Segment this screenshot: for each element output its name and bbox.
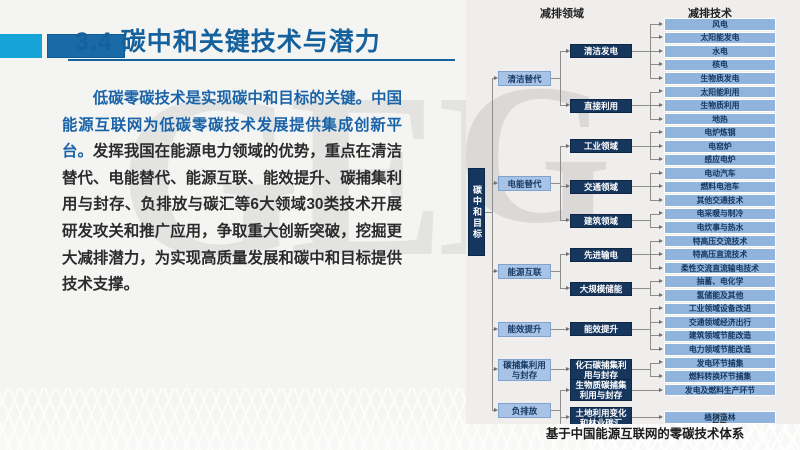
tech-node-24[interactable]: 电力领域节能改造: [664, 343, 776, 356]
tech-node-15[interactable]: 电炊事与热水: [664, 221, 776, 234]
connector-arrow: [494, 367, 498, 371]
tech-node-13[interactable]: 其他交通技术: [664, 194, 776, 207]
connector-arrow: [566, 252, 570, 256]
pillar-node-1[interactable]: 电能替代: [498, 176, 551, 191]
tech-node-8[interactable]: 电炉炼钢: [664, 126, 776, 139]
tech-node-3[interactable]: 核电: [664, 59, 776, 72]
connector-line: [650, 119, 659, 120]
connector-line: [650, 308, 659, 309]
connector-arrow: [659, 360, 663, 364]
connector-line: [650, 417, 659, 418]
area-node-6[interactable]: 大规模储能: [570, 282, 632, 296]
area-node-0[interactable]: 清洁发电: [570, 44, 632, 58]
connector-line: [650, 322, 659, 323]
connector-line: [632, 146, 650, 147]
tech-node-23[interactable]: 建筑领域节能改造: [664, 330, 776, 343]
connector-arrow: [659, 266, 663, 270]
connector-line: [650, 173, 659, 174]
connector-line: [650, 363, 651, 378]
page-number: 22: [712, 411, 727, 428]
pillar-node-4[interactable]: 碳捕集利用与封存: [498, 359, 551, 381]
connector-line: [551, 271, 560, 272]
connector-line: [632, 417, 650, 418]
connector-line: [650, 78, 659, 79]
connector-arrow: [659, 225, 663, 229]
tech-node-7[interactable]: 地热: [664, 113, 776, 126]
connector-line: [560, 51, 561, 106]
connector-line: [650, 132, 659, 133]
connector-arrow: [659, 198, 663, 202]
diagram-panel: G 减排领域 减排技术 碳中和目标 清洁替代电能替代能源互联能效提升碳捕集利用与…: [466, 0, 800, 424]
connector-arrow: [659, 62, 663, 66]
connector-arrow: [659, 130, 663, 134]
body-paragraph: 低碳零碳技术是实现碳中和目标的关键。中国能源互联网为低碳零碳技术发展提供集成创新…: [62, 86, 402, 299]
connector-line: [650, 308, 651, 350]
connector-arrow: [659, 117, 663, 121]
tech-node-18[interactable]: 柔性交流直流输电技术: [664, 262, 776, 275]
diagram-root-node[interactable]: 碳中和目标: [468, 168, 485, 256]
connector-arrow: [659, 252, 663, 256]
connector-arrow: [659, 279, 663, 283]
connector-line: [632, 105, 650, 106]
connector-arrow: [659, 347, 663, 351]
tech-node-21[interactable]: 工业领域设备改进: [664, 303, 776, 316]
connector-line: [650, 24, 659, 25]
connector-line: [650, 281, 651, 296]
title-accent-bar-light: [0, 34, 42, 58]
connector-line: [632, 51, 650, 52]
connector-line: [650, 200, 659, 201]
connector-arrow: [659, 320, 663, 324]
connector-line: [560, 254, 561, 289]
tech-node-9[interactable]: 电窑炉: [664, 140, 776, 153]
connector-line: [650, 335, 659, 336]
tech-node-19[interactable]: 抽蓄、电化学: [664, 275, 776, 288]
connector-line: [632, 390, 650, 391]
area-node-1[interactable]: 直接利用: [570, 99, 632, 113]
connector-arrow: [659, 171, 663, 175]
connector-arrow: [659, 239, 663, 243]
connector-arrow: [566, 388, 570, 392]
area-node-5[interactable]: 先进输电: [570, 248, 632, 262]
connector-arrow: [659, 103, 663, 107]
connector-line: [632, 220, 650, 221]
connector-line: [551, 329, 560, 330]
connector-line: [650, 363, 659, 364]
tech-node-1[interactable]: 太阳能发电: [664, 32, 776, 45]
connector-arrow: [659, 388, 663, 392]
connector-arrow: [566, 144, 570, 148]
connector-arrow: [659, 306, 663, 310]
connector-arrow: [566, 415, 570, 419]
tech-node-20[interactable]: 氢储能及其他: [664, 289, 776, 302]
tech-node-17[interactable]: 特高压直流技术: [664, 248, 776, 261]
connector-line: [650, 295, 659, 296]
connector-arrow: [659, 333, 663, 337]
connector-line: [650, 105, 659, 106]
tech-node-0[interactable]: 风电: [664, 18, 776, 31]
connector-line: [650, 51, 659, 52]
connector-line: [650, 64, 659, 65]
connector-arrow: [659, 184, 663, 188]
area-node-3[interactable]: 交通领域: [570, 180, 632, 194]
pillar-node-0[interactable]: 清洁替代: [498, 71, 551, 86]
connector-arrow: [659, 49, 663, 53]
connector-line: [650, 390, 659, 391]
connector-arrow: [659, 374, 663, 378]
tech-node-4[interactable]: 生物质发电: [664, 72, 776, 85]
column-header-areas: 减排领域: [540, 5, 584, 21]
tech-node-11[interactable]: 电动汽车: [664, 167, 776, 180]
connector-arrow: [566, 286, 570, 290]
connector-arrow: [566, 327, 570, 331]
connector-line: [632, 254, 650, 255]
connector-line: [650, 186, 659, 187]
connector-line: [632, 288, 650, 289]
connector-arrow: [659, 293, 663, 297]
diagram-caption: 基于中国能源互联网的零碳技术体系: [500, 424, 790, 442]
connector-line: [551, 410, 560, 411]
pillar-node-5[interactable]: 负排放: [498, 403, 551, 418]
connector-line: [560, 146, 561, 222]
tech-node-25[interactable]: 发电环节捕集: [664, 357, 776, 370]
slide-canvas: GEIDCO ion 3.4 碳中和关键技术与潜力 低碳零碳技术是实现碳中和目标…: [0, 0, 800, 450]
connector-arrow: [659, 157, 663, 161]
connector-line: [560, 390, 561, 424]
pillar-node-2[interactable]: 能源互联: [498, 264, 551, 279]
area-node-8[interactable]: 化石碳捕集利用与封存: [570, 359, 632, 381]
connector-arrow: [566, 367, 570, 371]
area-node-2[interactable]: 工业领域: [570, 139, 632, 153]
area-node-4[interactable]: 建筑领域: [570, 214, 632, 228]
title-underline: [68, 59, 455, 61]
connector-line: [632, 369, 650, 370]
connector-line: [650, 254, 659, 255]
tech-node-5[interactable]: 太阳能利用: [664, 86, 776, 99]
connector-arrow: [494, 408, 498, 412]
connector-line: [650, 92, 659, 93]
connector-arrow: [494, 269, 498, 273]
connector-arrow: [659, 144, 663, 148]
tech-node-6[interactable]: 生物质利用: [664, 99, 776, 112]
area-node-9[interactable]: 生物质碳捕集利用与封存: [570, 379, 632, 401]
area-node-10[interactable]: 土地利用变化和林业碳汇: [570, 407, 632, 424]
connector-line: [650, 214, 651, 229]
connector-arrow: [566, 184, 570, 188]
tech-node-27[interactable]: 发电及燃料生产环节: [664, 384, 776, 397]
connector-line: [650, 146, 659, 147]
tech-node-16[interactable]: 特高压交流技术: [664, 235, 776, 248]
tech-node-10[interactable]: 感应电炉: [664, 154, 776, 167]
connector-arrow: [659, 35, 663, 39]
connector-arrow: [659, 89, 663, 93]
connector-line: [485, 212, 492, 213]
connector-arrow: [659, 22, 663, 26]
tech-node-14[interactable]: 电采暖与制冷: [664, 208, 776, 221]
connector-arrow: [659, 415, 663, 419]
connector-line: [650, 214, 659, 215]
connector-line: [492, 78, 493, 411]
connector-arrow: [566, 218, 570, 222]
body-rest-text: 发挥我国在能源电力领域的优势，重点在清洁替代、电能替代、能源互联、能效提升、碳捕…: [62, 143, 402, 293]
connector-arrow: [659, 76, 663, 80]
connector-line: [650, 376, 659, 377]
connector-line: [650, 241, 659, 242]
connector-arrow: [566, 49, 570, 53]
connector-line: [632, 186, 650, 187]
connector-arrow: [659, 211, 663, 215]
tech-node-2[interactable]: 水电: [664, 45, 776, 58]
area-node-7[interactable]: 能效提升: [570, 322, 632, 336]
connector-line: [650, 159, 659, 160]
connector-line: [650, 268, 659, 269]
connector-arrow: [566, 103, 570, 107]
connector-line: [551, 78, 560, 79]
tech-node-22[interactable]: 交通领域经济出行: [664, 316, 776, 329]
connector-line: [650, 37, 659, 38]
connector-line: [650, 349, 659, 350]
connector-line: [551, 183, 560, 184]
connector-line: [632, 329, 650, 330]
connector-arrow: [494, 76, 498, 80]
tech-node-26[interactable]: 燃料转换环节捕集: [664, 370, 776, 383]
connector-arrow: [494, 181, 498, 185]
connector-arrow: [494, 327, 498, 331]
page-title: 3.4 碳中和关键技术与潜力: [75, 22, 455, 58]
tech-node-12[interactable]: 燃料电池车: [664, 181, 776, 194]
connector-line: [650, 281, 659, 282]
connector-line: [650, 227, 659, 228]
connector-line: [551, 369, 560, 370]
pillar-node-3[interactable]: 能效提升: [498, 322, 551, 337]
